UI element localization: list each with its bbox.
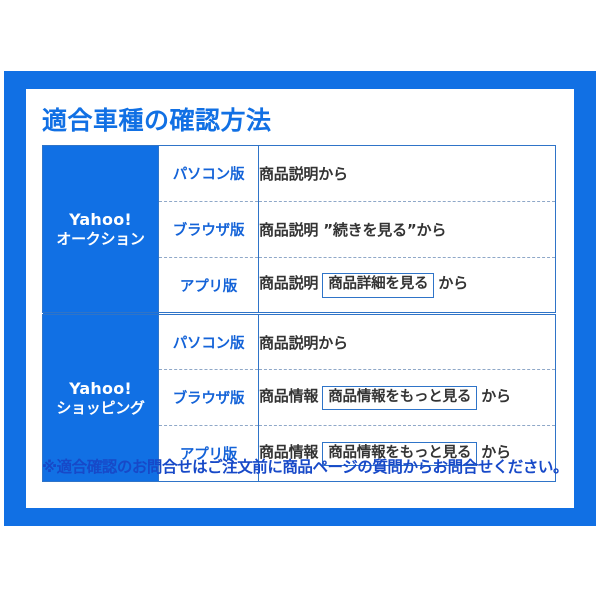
description-cell: 商品説明 ”続きを見る”から xyxy=(259,202,556,258)
info-poster-frame: 適合車種の確認方法 Yahoo! オークション パソコン版 商品説明から ブラウ… xyxy=(4,71,596,526)
ui-button-reference[interactable]: 商品情報をもっと見る xyxy=(322,386,477,411)
description-text-post: から xyxy=(481,387,511,405)
description-cell: 商品説明商品詳細を見るから xyxy=(259,258,556,314)
description-text-pre: 商品情報 xyxy=(259,387,318,405)
description-text-pre: 商品説明 xyxy=(259,274,318,292)
platform-cell-browser: ブラウザ版 xyxy=(159,370,259,426)
description-text-post: から xyxy=(438,274,468,292)
description-text-pre: 商品説明から xyxy=(259,165,348,183)
service-sub-label: ショッピング xyxy=(43,399,158,417)
ui-button-reference[interactable]: 商品詳細を見る xyxy=(322,273,434,298)
description-text-pre: 商品説明から xyxy=(259,334,348,352)
description-text-pre: 商品説明 ”続きを見る”から xyxy=(259,221,446,239)
service-brand-label: Yahoo! xyxy=(43,379,158,398)
table-row: Yahoo! ショッピング パソコン版 商品説明から xyxy=(43,314,556,370)
footer-note: ※適合確認のお問合せはご注文前に商品ページの質問からお問合せください。 xyxy=(42,455,568,477)
page-title: 適合車種の確認方法 xyxy=(42,101,272,137)
service-cell-auction: Yahoo! オークション xyxy=(43,146,159,314)
service-brand-label: Yahoo! xyxy=(43,210,158,229)
description-cell: 商品説明から xyxy=(259,314,556,370)
platform-cell-browser: ブラウザ版 xyxy=(159,202,259,258)
poster-inner-panel: 適合車種の確認方法 Yahoo! オークション パソコン版 商品説明から ブラウ… xyxy=(26,89,574,508)
table-row: Yahoo! オークション パソコン版 商品説明から xyxy=(43,146,556,202)
service-sub-label: オークション xyxy=(43,230,158,248)
compatibility-check-table: Yahoo! オークション パソコン版 商品説明から ブラウザ版 商品説明 ”続… xyxy=(42,145,556,482)
platform-cell-pc: パソコン版 xyxy=(159,146,259,202)
platform-cell-app: アプリ版 xyxy=(159,258,259,314)
description-cell: 商品情報商品情報をもっと見るから xyxy=(259,370,556,426)
platform-cell-pc: パソコン版 xyxy=(159,314,259,370)
description-cell: 商品説明から xyxy=(259,146,556,202)
